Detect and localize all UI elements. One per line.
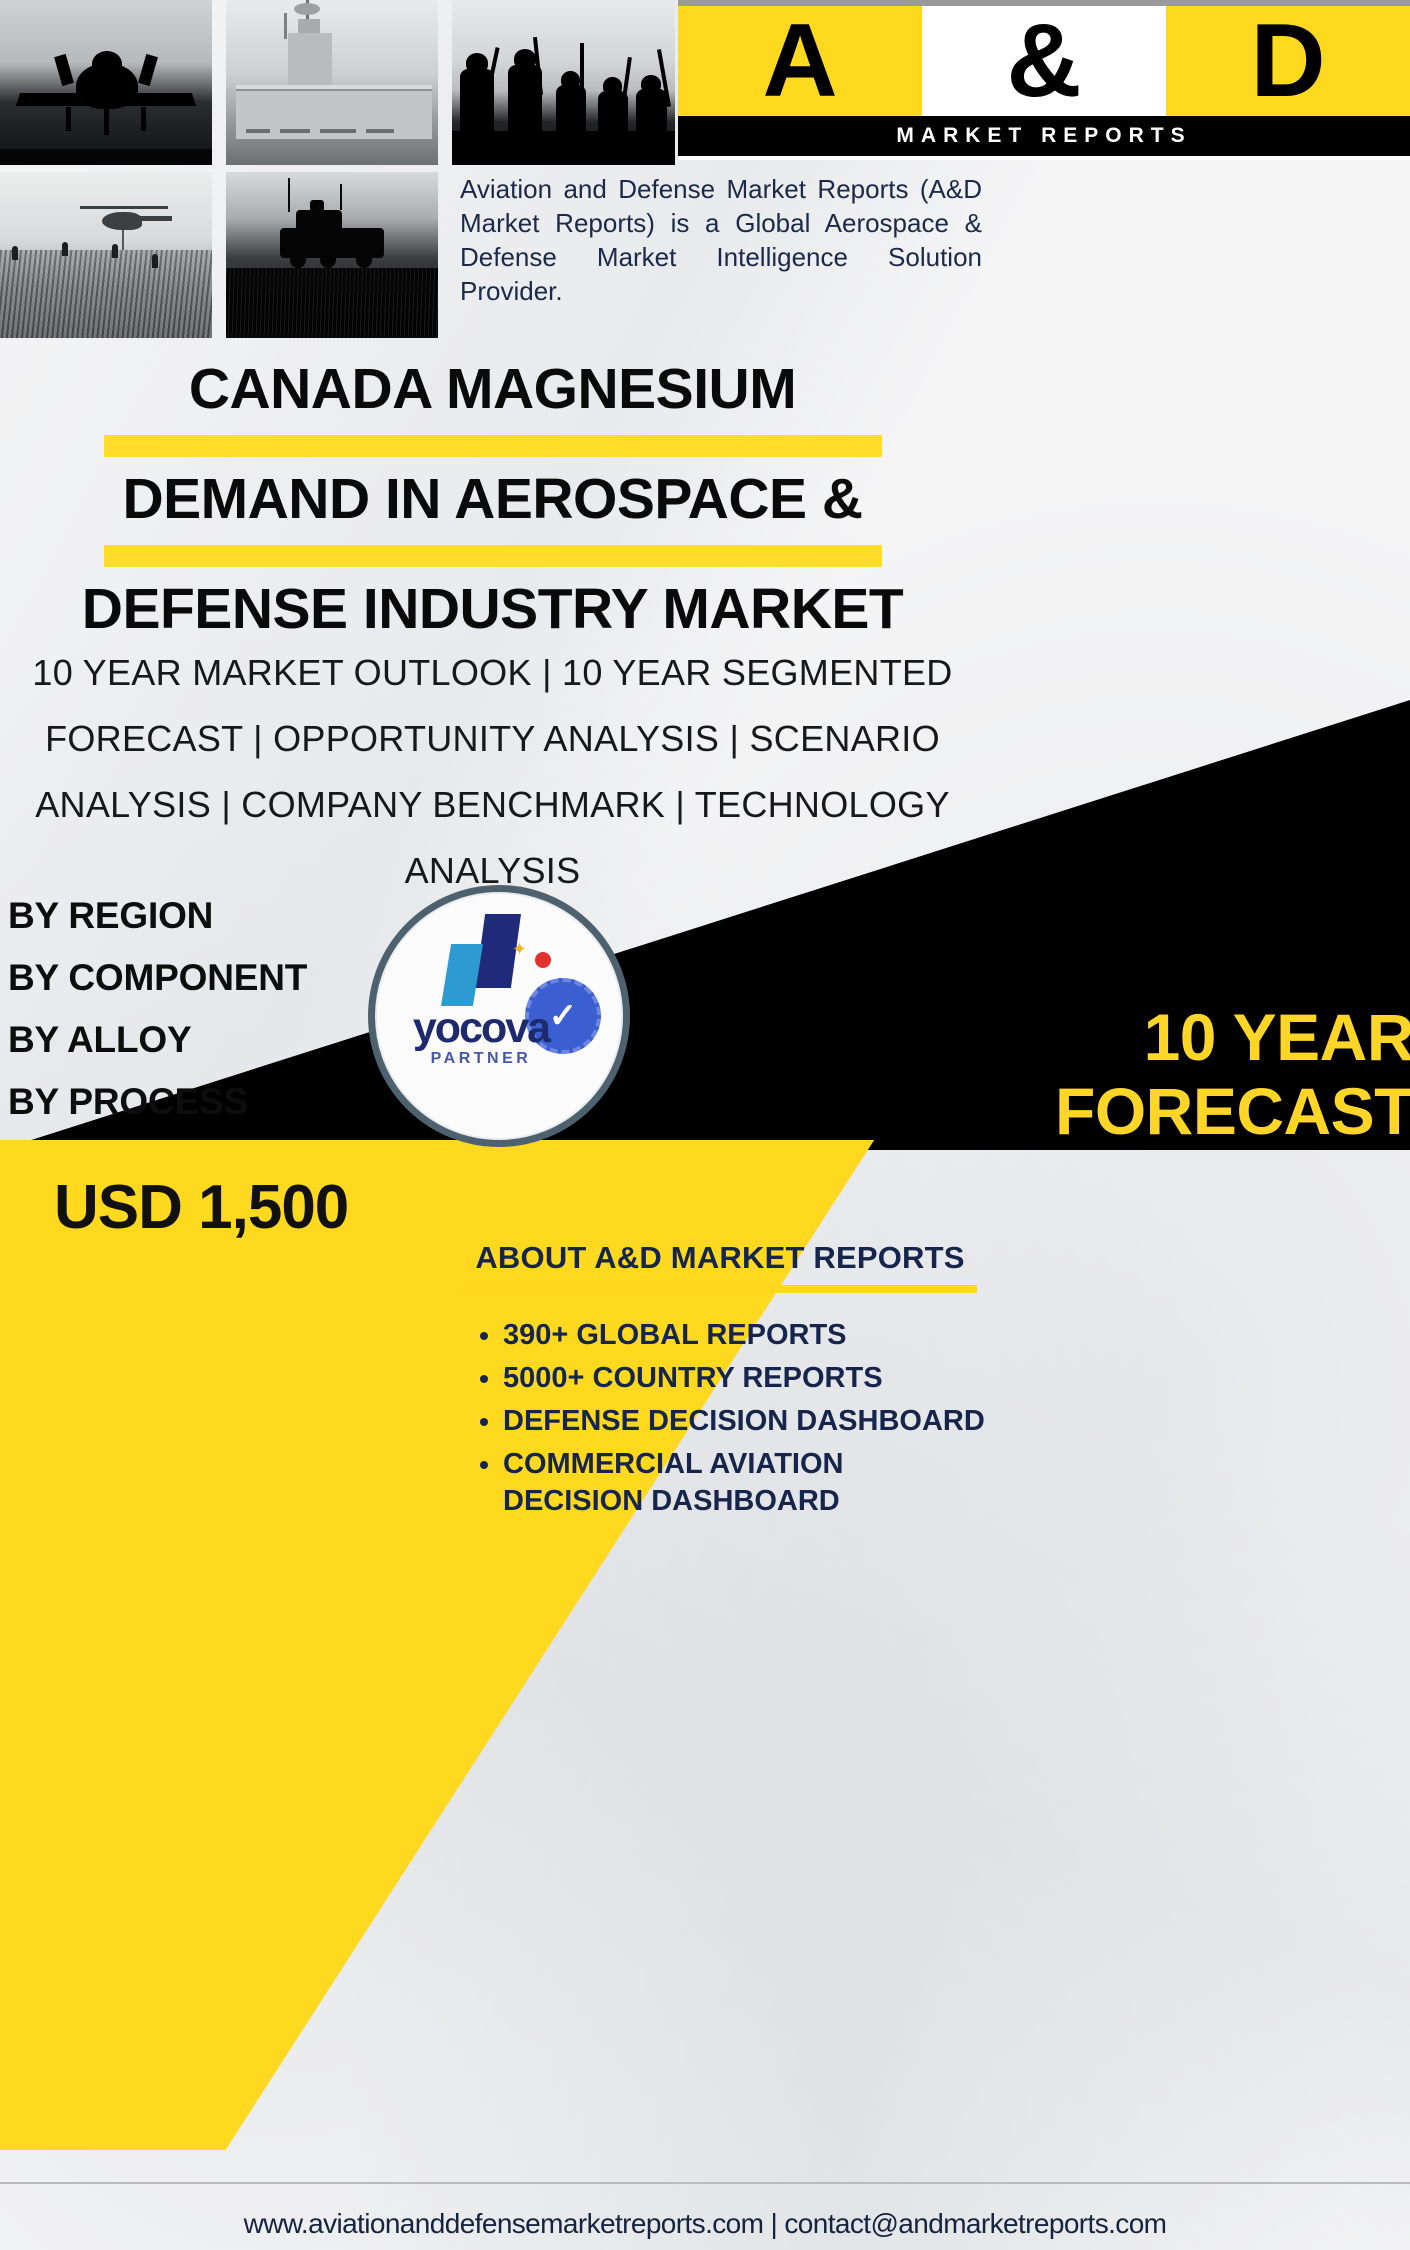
about-bullet-list: 390+ GLOBAL REPORTS 5000+ COUNTRY REPORT… (455, 1317, 985, 1520)
carrier-ship-icon (232, 8, 432, 139)
title-line-3: DEFENSE INDUSTRY MARKET (0, 580, 985, 640)
footer-divider (0, 2182, 1410, 2184)
title-line-1: CANADA MAGNESIUM (0, 360, 985, 420)
report-title: CANADA MAGNESIUM DEMAND IN AEROSPACE & D… (0, 360, 985, 640)
logo-letter-a: A (678, 6, 922, 116)
armored-vehicle-icon (280, 212, 384, 270)
footer-contact[interactable]: www.aviationanddefensemarketreports.com … (0, 2208, 1410, 2240)
yocova-partner-badge: ✦ ✓ yocova PARTNER (368, 885, 630, 1147)
helicopter-icon (78, 202, 170, 246)
about-bullet-country-reports: 5000+ COUNTRY REPORTS (503, 1360, 985, 1397)
logo-tagline-bar: MARKET REPORTS (678, 116, 1410, 156)
segmentation-item-process: BY PROCESS (8, 1081, 307, 1123)
photo-armored-military-vehicle (226, 172, 438, 338)
red-dot-icon (535, 952, 551, 968)
about-bullet-aviation-dashboard: COMMERCIAL AVIATION DECISION DASHBOARD (503, 1446, 985, 1520)
photo-aircraft-carrier-ship (226, 0, 438, 165)
segmentation-item-component: BY COMPONENT (8, 957, 307, 999)
brand-logo: A & D MARKET REPORTS (678, 0, 1410, 160)
segmentation-item-region: BY REGION (8, 895, 307, 937)
title-highlight-bar-1 (104, 435, 882, 457)
sparkle-icon: ✦ (512, 940, 527, 958)
about-bullet-defense-dashboard: DEFENSE DECISION DASHBOARD (503, 1403, 985, 1440)
forecast-line-1: 10 YEAR (634, 1000, 1410, 1074)
photo-helicopter-over-field (0, 172, 212, 338)
about-bullet-global-reports: 390+ GLOBAL REPORTS (503, 1317, 985, 1354)
forecast-line-2: FORECAST (634, 1074, 1410, 1148)
title-highlight-bar-2 (104, 545, 882, 567)
about-underline (461, 1285, 977, 1293)
about-section: ABOUT A&D MARKET REPORTS 390+ GLOBAL REP… (455, 1240, 985, 1526)
price-label: USD 1,500 (54, 1172, 348, 1243)
company-intro-text: Aviation and Defense Market Reports (A&D… (460, 172, 982, 308)
about-heading: ABOUT A&D MARKET REPORTS (455, 1240, 985, 1276)
photo-soldiers-silhouette (452, 0, 675, 165)
report-subtitle: 10 YEAR MARKET OUTLOOK | 10 YEAR SEGMENT… (0, 640, 985, 904)
yocova-wordmark: yocova (391, 1004, 571, 1053)
forecast-badge: 10 YEAR FORECAST (634, 1000, 1410, 1148)
fighter-jet-icon (18, 49, 194, 145)
yocova-partner-label: PARTNER (391, 1050, 571, 1068)
photo-fighter-jet-on-carrier-deck (0, 0, 212, 165)
poster-page: A & D MARKET REPORTS Aviation and Defens… (0, 0, 1410, 2250)
segmentation-item-alloy: BY ALLOY (8, 1019, 307, 1061)
yocova-mark-blue-icon (441, 944, 483, 1006)
logo-letter-d: D (1166, 6, 1410, 116)
logo-tagline: MARKET REPORTS (896, 124, 1191, 148)
segmentation-list: BY REGION BY COMPONENT BY ALLOY BY PROCE… (8, 895, 307, 1143)
title-line-2: DEMAND IN AEROSPACE & (0, 470, 985, 530)
logo-letter-ampersand: & (922, 6, 1166, 116)
logo-letter-tiles: A & D (678, 6, 1410, 116)
